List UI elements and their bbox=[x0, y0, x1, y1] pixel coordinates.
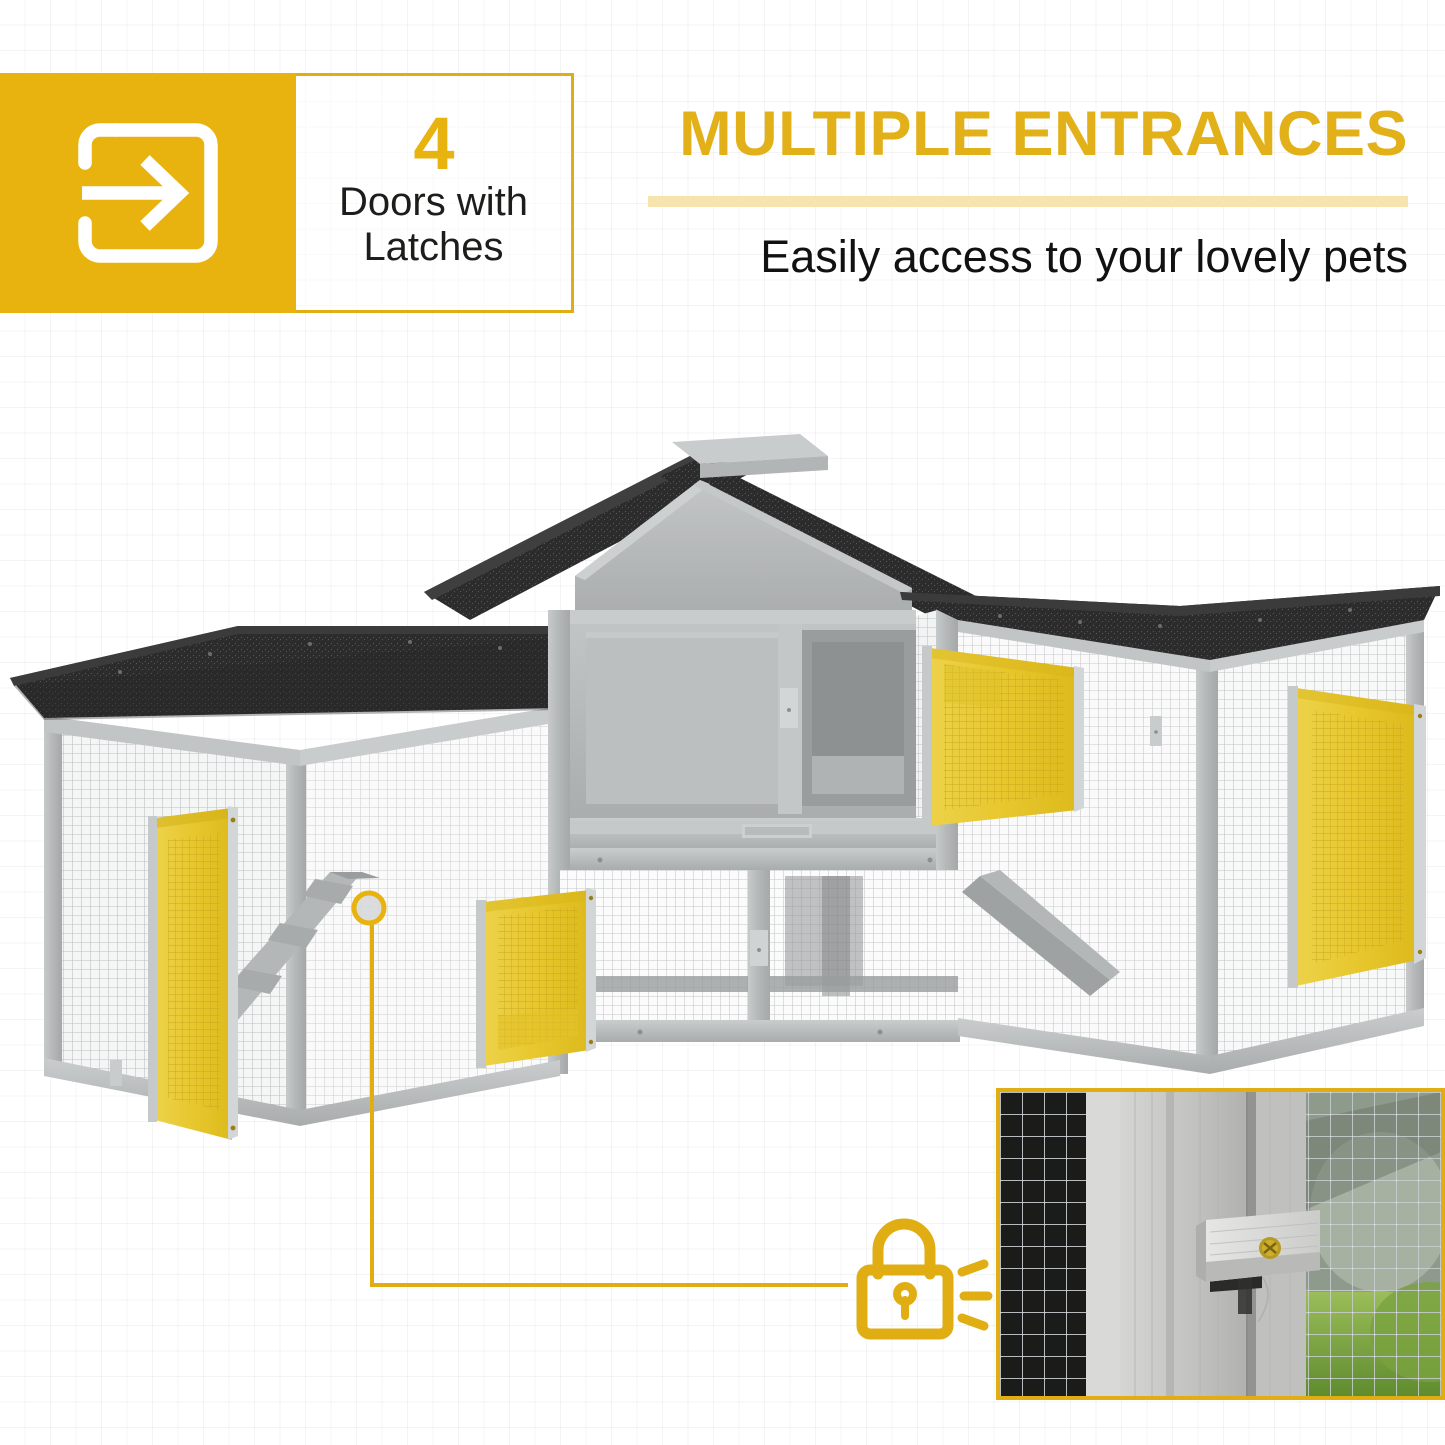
right-run bbox=[900, 586, 1440, 1074]
header-title-block: MULTIPLE ENTRANCES Easily access to your… bbox=[648, 103, 1408, 280]
upper-right-yellow-door bbox=[922, 646, 1084, 828]
page-subtitle: Easily access to your lovely pets bbox=[648, 233, 1408, 280]
enter-door-arrow-icon bbox=[73, 118, 223, 268]
right-run-yellow-door bbox=[1288, 686, 1426, 988]
feature-badge: 4 Doors with Latches bbox=[0, 73, 574, 313]
lower-center-run bbox=[476, 870, 960, 1068]
badge-label-line1: Doors with bbox=[339, 180, 528, 225]
lower-center-yellow-door bbox=[476, 888, 596, 1068]
left-run bbox=[10, 626, 600, 1140]
badge-label-line2: Latches bbox=[363, 225, 503, 270]
open-padlock-icon bbox=[852, 1212, 1002, 1344]
title-divider bbox=[648, 196, 1408, 207]
page-title: MULTIPLE ENTRANCES bbox=[648, 103, 1408, 166]
badge-text-panel: 4 Doors with Latches bbox=[296, 73, 574, 313]
badge-count: 4 bbox=[413, 110, 453, 178]
left-run-yellow-door bbox=[148, 806, 238, 1140]
badge-icon-panel bbox=[0, 73, 296, 313]
latch-detail-photo bbox=[996, 1088, 1445, 1400]
infographic-canvas: 4 Doors with Latches MULTIPLE ENTRANCES … bbox=[0, 0, 1445, 1445]
product-image-rabbit-hutch bbox=[0, 420, 1445, 1140]
